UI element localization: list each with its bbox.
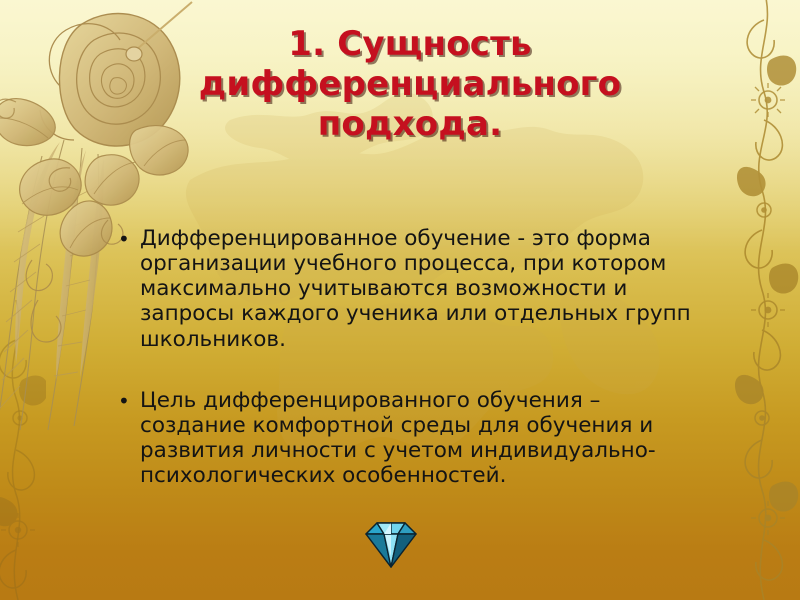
bullet-text: Цель дифференцированного обучения – созд… [140, 388, 758, 489]
bullet-marker-icon: • [118, 388, 140, 413]
presentation-slide: 1. Сущность дифференциального подхода. •… [0, 0, 800, 600]
slide-body: • Дифференцированное обучение - это форм… [118, 226, 758, 488]
bullet-text: Дифференцированное обучение - это форма … [140, 226, 758, 352]
bullet-item: • Дифференцированное обучение - это форм… [118, 226, 758, 352]
slide-title: 1. Сущность дифференциального подхода. [120, 24, 700, 144]
diamond-gem-icon [364, 517, 418, 569]
bullet-marker-icon: • [118, 226, 140, 251]
bullet-item: • Цель дифференцированного обучения – со… [118, 388, 758, 489]
left-floral-vine-border [0, 300, 46, 600]
